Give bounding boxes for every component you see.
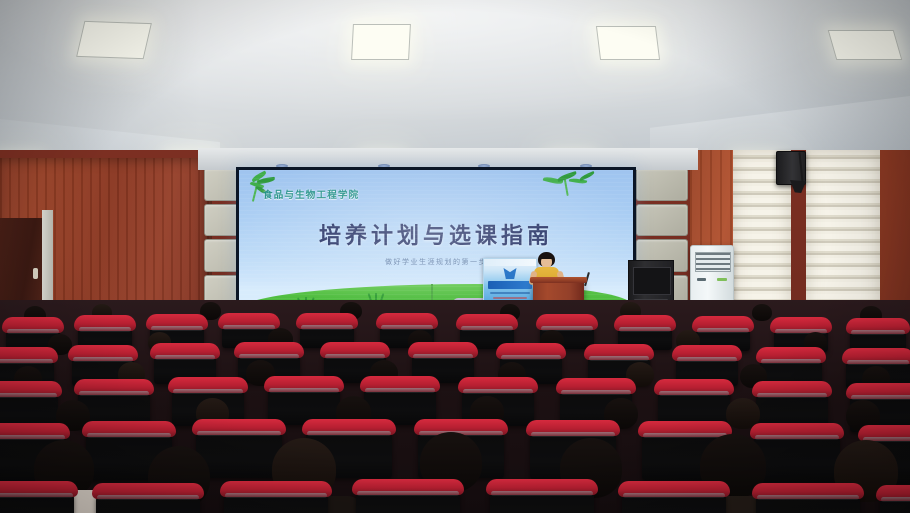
auditorium-seat[interactable]	[224, 486, 328, 513]
ceiling-light-panel	[351, 24, 411, 60]
slide-title-text: 培养计划与选课指南	[239, 218, 633, 250]
banner-wordmark	[488, 281, 532, 289]
auditorium-seat[interactable]	[0, 486, 74, 513]
auditorium-seat[interactable]	[96, 488, 200, 513]
presenter-fringe	[540, 254, 553, 259]
ceiling-light-panel	[596, 26, 660, 60]
ac-indicator-light	[717, 278, 727, 281]
ceiling-light-panel	[76, 21, 152, 59]
auditorium-seat[interactable]	[880, 490, 910, 513]
auditorium-seat[interactable]	[490, 484, 594, 513]
audience-head	[752, 304, 772, 321]
ac-vent-grille	[695, 252, 731, 272]
banner-logo-icon	[504, 268, 517, 279]
acoustic-panel	[636, 204, 688, 237]
auditorium-seat[interactable]	[754, 428, 840, 482]
slide-header-text: 食品与生物工程学院	[263, 187, 359, 201]
lecture-hall-screenshot: 食品与生物工程学院 培养计划与选课指南 做好学业生涯规划的第一步	[0, 0, 910, 513]
rack-front-panel	[633, 267, 671, 295]
auditorium-seat[interactable]	[356, 484, 460, 513]
ceiling-light-panel	[828, 30, 903, 60]
banner-text-line	[493, 297, 527, 299]
ac-label	[697, 278, 706, 281]
acoustic-panel	[636, 168, 688, 201]
audience-seating-area	[0, 300, 910, 513]
slide-subtitle-text: 做好学业生涯规划的第一步	[239, 257, 633, 267]
banner-text-line	[490, 292, 530, 294]
door-handle-icon[interactable]	[33, 268, 38, 279]
auditorium-seat[interactable]	[756, 488, 860, 513]
auditorium-seat[interactable]	[622, 486, 726, 513]
podium-top-surface	[530, 277, 587, 283]
